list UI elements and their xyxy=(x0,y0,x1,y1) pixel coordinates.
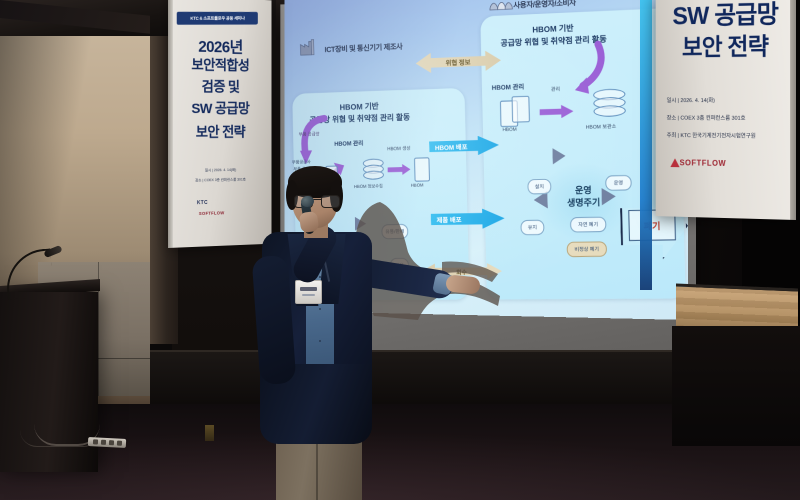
slide-right-panel-header: ICT 장비 운영사용자/운영자/소비자 xyxy=(513,0,576,11)
caption-hbom-management-left: HBOM 관리 xyxy=(334,141,363,149)
banner-right: SW 공급망 보안 전략 일시 | 2026. 4. 14(화) 장소 | CO… xyxy=(656,0,796,220)
banner-left-logo-ktc: KTC xyxy=(197,200,208,206)
speaker xyxy=(248,168,488,500)
softflow-logo-mark xyxy=(670,158,679,167)
caption-hbom-right: HBOM xyxy=(502,127,516,135)
box-maintain: 유지 xyxy=(520,220,544,236)
database-hbom-repository xyxy=(593,88,624,120)
box-abnormal-disposal: 비정상 폐기 xyxy=(567,241,608,257)
banner-left-logo-softflow: SOFTFLOW xyxy=(199,210,225,216)
banner-right-title-2: 보안 전략 xyxy=(656,26,796,63)
floor-marker-light xyxy=(205,425,214,441)
doc-hbom-right-b xyxy=(512,96,530,123)
caption-part-supply-chain: 부품 공급망 xyxy=(299,130,320,138)
caption-manage: 관리 xyxy=(551,87,560,94)
speaker-name-badge xyxy=(295,280,322,304)
caption-hbom-create: HBOM 생성 xyxy=(387,146,411,154)
banner-left-badge: KTC & 소프트플로우 공동 세미나 xyxy=(177,12,258,25)
conference-photo: ICT장비 및 통신기기 제조사 HBOM 기반공급망 위협 및 취약점 관리 … xyxy=(0,0,800,500)
banner-left-title-3: 검증 및 xyxy=(168,76,272,97)
banner-right-fine-1: 일시 | 2026. 4. 14(화) xyxy=(667,96,715,104)
crate-base-shadow xyxy=(672,326,800,446)
box-natural-disposal: 자연 폐기 xyxy=(570,217,607,233)
banner-left-title-5: 보안 전략 xyxy=(168,122,272,142)
banner-right-fine-3: 주최 | KTC 한국기계전기전자시험연구원 xyxy=(667,131,756,140)
banner-right-fine-2: 장소 | COEX 3층 컨퍼런스룸 301호 xyxy=(667,114,746,122)
power-strip xyxy=(88,437,126,448)
people-icon xyxy=(487,0,513,12)
box-install: 설치 xyxy=(527,179,551,195)
banner-left-title-2: 보안적합성 xyxy=(168,54,272,76)
banner-right-blue-strip xyxy=(640,0,652,290)
factory-icon xyxy=(299,38,320,57)
speaker-mic-hand xyxy=(299,211,320,233)
caption-hbom-repository: HBOM 보관소 xyxy=(586,124,617,132)
ceiling-slab xyxy=(0,0,150,34)
banner-left-title-4: SW 공급망 xyxy=(168,98,272,118)
caption-hbom-management-right: HBOM 관리 xyxy=(492,84,525,92)
banner-right-edge xyxy=(790,0,796,220)
box-operate: 운영 xyxy=(605,175,632,191)
slide-left-panel-header: ICT장비 및 통신기기 제조사 xyxy=(325,41,403,55)
banner-right-logo-softflow: SOFTFLOW xyxy=(680,158,727,167)
